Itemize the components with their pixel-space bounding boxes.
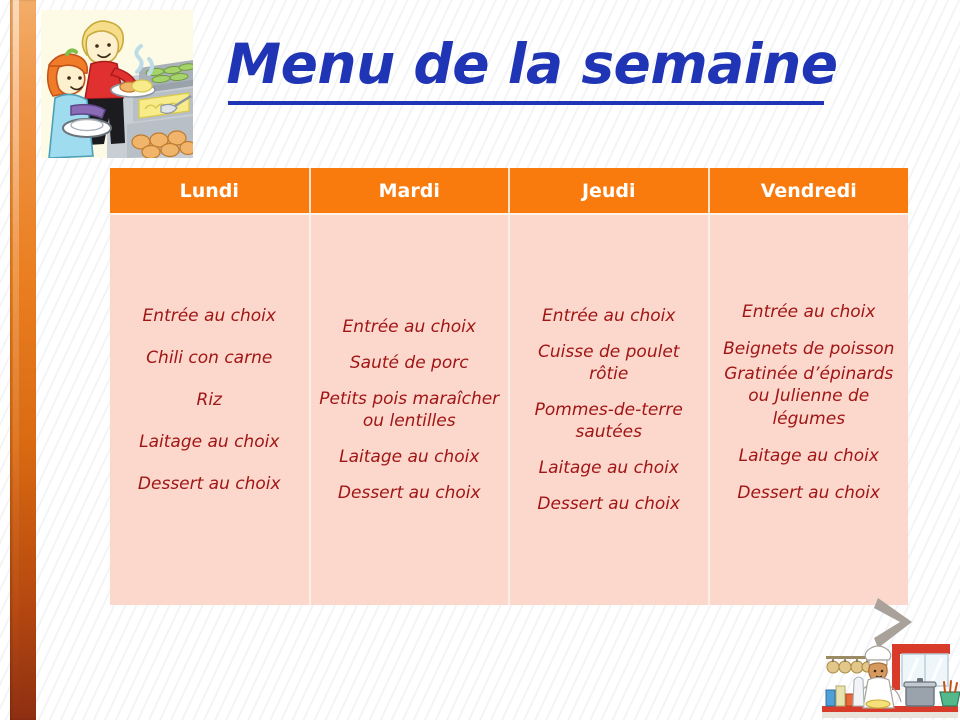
menu-item: Laitage au choix: [516, 457, 702, 479]
chef-clipart: [820, 640, 960, 720]
menu-item: Petits pois maraîcher ou lentilles: [317, 388, 503, 432]
menu-cell-mardi: Entrée au choix Sauté de porc Petits poi…: [310, 214, 510, 605]
menu-cell-jeudi: Entrée au choix Cuisse de poulet rôtie P…: [509, 214, 709, 605]
left-accent-bar-gloss: [13, 0, 19, 720]
menu-item: Beignets de poisson: [716, 338, 903, 360]
weekly-menu-table: Lundi Mardi Jeudi Vendredi Entrée au cho…: [110, 168, 908, 605]
table-row: Entrée au choix Chili con carne Riz Lait…: [110, 214, 908, 605]
menu-item: Dessert au choix: [116, 473, 303, 495]
menu-item: Sauté de porc: [317, 352, 503, 374]
menu-item: Riz: [116, 389, 303, 411]
menu-item: Cuisse de poulet rôtie: [516, 341, 702, 385]
menu-item: Dessert au choix: [317, 482, 503, 504]
column-header-lundi: Lundi: [110, 168, 310, 214]
column-header-jeudi: Jeudi: [509, 168, 709, 214]
cafeteria-clipart: [41, 10, 193, 158]
title-underline: [228, 101, 824, 105]
menu-item: Gratinée d’épinards ou Julienne de légum…: [716, 363, 903, 429]
menu-item: Chili con carne: [116, 347, 303, 369]
table-header-row: Lundi Mardi Jeudi Vendredi: [110, 168, 908, 214]
menu-item: Dessert au choix: [716, 482, 903, 504]
menu-item: Pommes-de-terre sautées: [516, 399, 702, 443]
menu-item: Entrée au choix: [317, 316, 503, 338]
page-title: Menu de la semaine: [222, 36, 842, 94]
menu-item: Laitage au choix: [116, 431, 303, 453]
column-header-mardi: Mardi: [310, 168, 510, 214]
menu-cell-vendredi: Entrée au choix Beignets de poisson Grat…: [709, 214, 909, 605]
menu-item: Dessert au choix: [516, 493, 702, 515]
slide-canvas: Menu de la semaine Lundi Mardi Jeudi Ven…: [0, 0, 960, 720]
menu-item: Entrée au choix: [716, 301, 903, 323]
menu-item: Entrée au choix: [516, 305, 702, 327]
menu-item: Laitage au choix: [716, 445, 903, 467]
column-header-vendredi: Vendredi: [709, 168, 909, 214]
menu-item: Laitage au choix: [317, 446, 503, 468]
menu-cell-lundi: Entrée au choix Chili con carne Riz Lait…: [110, 214, 310, 605]
menu-item: Entrée au choix: [116, 305, 303, 327]
